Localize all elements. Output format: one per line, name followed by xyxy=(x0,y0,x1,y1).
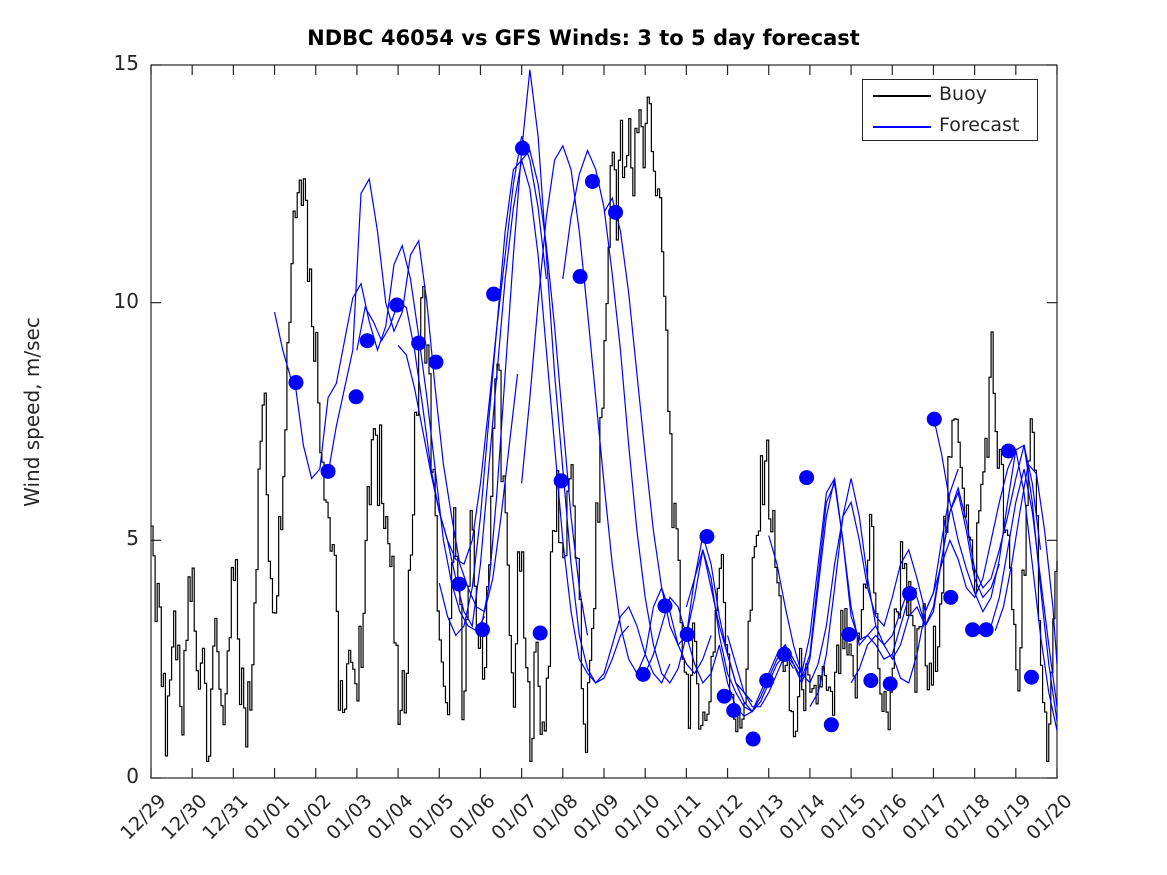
data-point-marker xyxy=(475,622,490,637)
data-point-marker xyxy=(428,355,443,370)
data-point-marker xyxy=(585,174,600,189)
data-point-marker xyxy=(452,577,467,592)
data-point-marker xyxy=(824,717,839,732)
legend-line-forecast xyxy=(873,126,931,128)
data-point-marker xyxy=(657,598,672,613)
legend-label-buoy: Buoy xyxy=(939,83,987,105)
data-point-marker xyxy=(746,732,761,747)
data-point-marker xyxy=(533,626,548,641)
data-point-marker xyxy=(799,470,814,485)
data-point-marker xyxy=(389,298,404,313)
legend-item-forecast[interactable]: Forecast xyxy=(863,111,1039,142)
data-point-marker xyxy=(902,586,917,601)
legend-item-buoy[interactable]: Buoy xyxy=(863,80,1039,111)
data-point-marker xyxy=(554,473,569,488)
y-tick-label: 0 xyxy=(79,764,139,788)
y-tick-label: 15 xyxy=(79,51,139,75)
data-point-marker xyxy=(486,287,501,302)
data-point-marker xyxy=(1024,670,1039,685)
y-tick-label: 5 xyxy=(79,526,139,550)
data-point-marker xyxy=(726,703,741,718)
data-point-marker xyxy=(777,647,792,662)
data-point-marker xyxy=(288,375,303,390)
data-point-marker xyxy=(883,676,898,691)
legend-line-buoy xyxy=(873,95,931,97)
legend: Buoy Forecast xyxy=(862,79,1038,141)
data-point-marker xyxy=(680,627,695,642)
data-point-marker xyxy=(699,529,714,544)
data-point-marker xyxy=(349,389,364,404)
data-point-marker xyxy=(979,622,994,637)
data-point-marker xyxy=(943,590,958,605)
data-point-marker xyxy=(573,269,588,284)
data-point-marker xyxy=(842,627,857,642)
data-point-marker xyxy=(1001,443,1016,458)
legend-label-forecast: Forecast xyxy=(939,114,1019,136)
data-point-marker xyxy=(717,689,732,704)
y-tick-label: 10 xyxy=(79,289,139,313)
data-point-marker xyxy=(759,673,774,688)
data-point-marker xyxy=(411,336,426,351)
figure-container: NDBC 46054 vs GFS Winds: 3 to 5 day fore… xyxy=(0,0,1167,875)
data-point-marker xyxy=(608,205,623,220)
data-point-marker xyxy=(863,673,878,688)
data-point-marker xyxy=(965,622,980,637)
data-point-marker xyxy=(927,412,942,427)
data-point-marker xyxy=(360,333,375,348)
data-point-marker xyxy=(321,464,336,479)
data-point-marker xyxy=(515,141,530,156)
data-point-marker xyxy=(636,667,651,682)
